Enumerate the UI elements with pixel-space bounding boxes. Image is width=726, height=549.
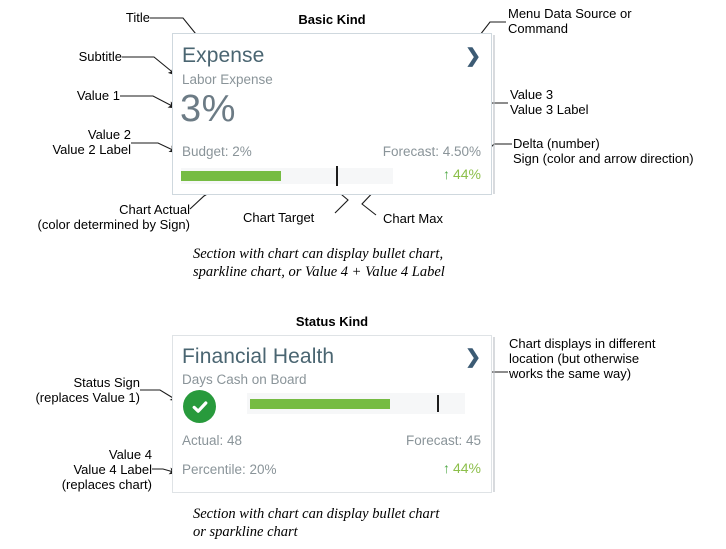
diagram-canvas: Basic Kind Expense ❯ Labor Expense 3% Bu… [0,0,726,549]
annotation-status-sign-line-2: (replaces Value 1) [5,390,140,406]
annotation-chart-location-line-2: location (but otherwise [509,351,639,367]
bullet-chart-actual [181,171,281,181]
card-value-3: Forecast: 45 [406,433,481,448]
annotation-value-3-line-1: Value 3 [510,87,553,103]
basic-caption-line-2: sparkline chart, or Value 4 + Value 4 La… [193,263,445,281]
basic-kind-heading: Basic Kind [172,12,492,27]
annotation-chart-max: Chart Max [383,211,443,227]
annotation-menu-line-2: Command [508,21,568,37]
bullet-chart-target [336,166,338,186]
basic-caption-line-1: Section with chart can display bullet ch… [193,245,443,263]
annotation-value-4-line-3: (replaces chart) [22,477,152,493]
card-title: Expense [182,44,264,68]
status-kind-card[interactable]: Financial Health ❯ Days Cash on Board Ac… [172,335,492,493]
card-value-2: Actual: 48 [182,433,242,448]
delta-up-arrow-icon: ↑ [443,461,450,475]
annotation-value-1: Value 1 [10,88,120,104]
card-subtitle: Labor Expense [182,72,273,87]
chevron-right-icon[interactable]: ❯ [465,47,481,66]
annotation-title: Title [40,10,150,26]
status-caption-line-2: or sparkline chart [193,523,298,541]
annotation-status-sign-line-1: Status Sign [20,375,140,391]
annotation-subtitle: Subtitle [12,49,122,65]
annotation-chart-location-line-3: works the same way) [509,366,631,382]
delta-value: 44% [453,166,481,182]
annotation-value-3-line-2: Value 3 Label [510,102,589,118]
card-subtitle: Days Cash on Board [182,372,307,387]
annotation-delta-line-1: Delta (number) [513,136,600,152]
chevron-right-icon[interactable]: ❯ [465,348,481,367]
annotation-chart-location-line-1: Chart displays in different [509,336,655,352]
delta-value: 44% [453,460,481,476]
delta-indicator: ↑ 44% [443,460,481,476]
annotation-menu-line-1: Menu Data Source or [508,6,632,22]
annotation-value-4-line-1: Value 4 [32,447,152,463]
delta-indicator: ↑ 44% [443,166,481,182]
annotation-value-2-line-2: Value 2 Label [6,142,131,158]
bullet-chart-track [247,393,465,414]
annotation-chart-actual-line-2: (color determined by Sign) [10,217,190,233]
status-sign-check-icon [183,390,216,423]
annotation-value-4-line-2: Value 4 Label [22,462,152,478]
card-value-2: Budget: 2% [182,144,252,159]
annotation-chart-target: Chart Target [243,210,314,226]
bullet-chart-target [437,395,439,412]
bullet-chart-track [181,168,393,184]
annotation-delta-line-2: Sign (color and arrow direction) [513,151,694,167]
bullet-chart-actual [250,399,390,409]
card-value-4: Percentile: 20% [182,462,277,477]
delta-up-arrow-icon: ↑ [443,167,450,181]
status-caption-line-1: Section with chart can display bullet ch… [193,505,439,523]
card-value-3: Forecast: 4.50% [383,144,481,159]
basic-kind-card[interactable]: Expense ❯ Labor Expense 3% Budget: 2% Fo… [172,33,492,195]
card-title: Financial Health [182,345,334,369]
status-kind-heading: Status Kind [172,314,492,329]
annotation-chart-actual-line-1: Chart Actual [40,202,190,218]
card-value-1: 3% [180,88,236,131]
annotation-value-2-line-1: Value 2 [6,127,131,143]
